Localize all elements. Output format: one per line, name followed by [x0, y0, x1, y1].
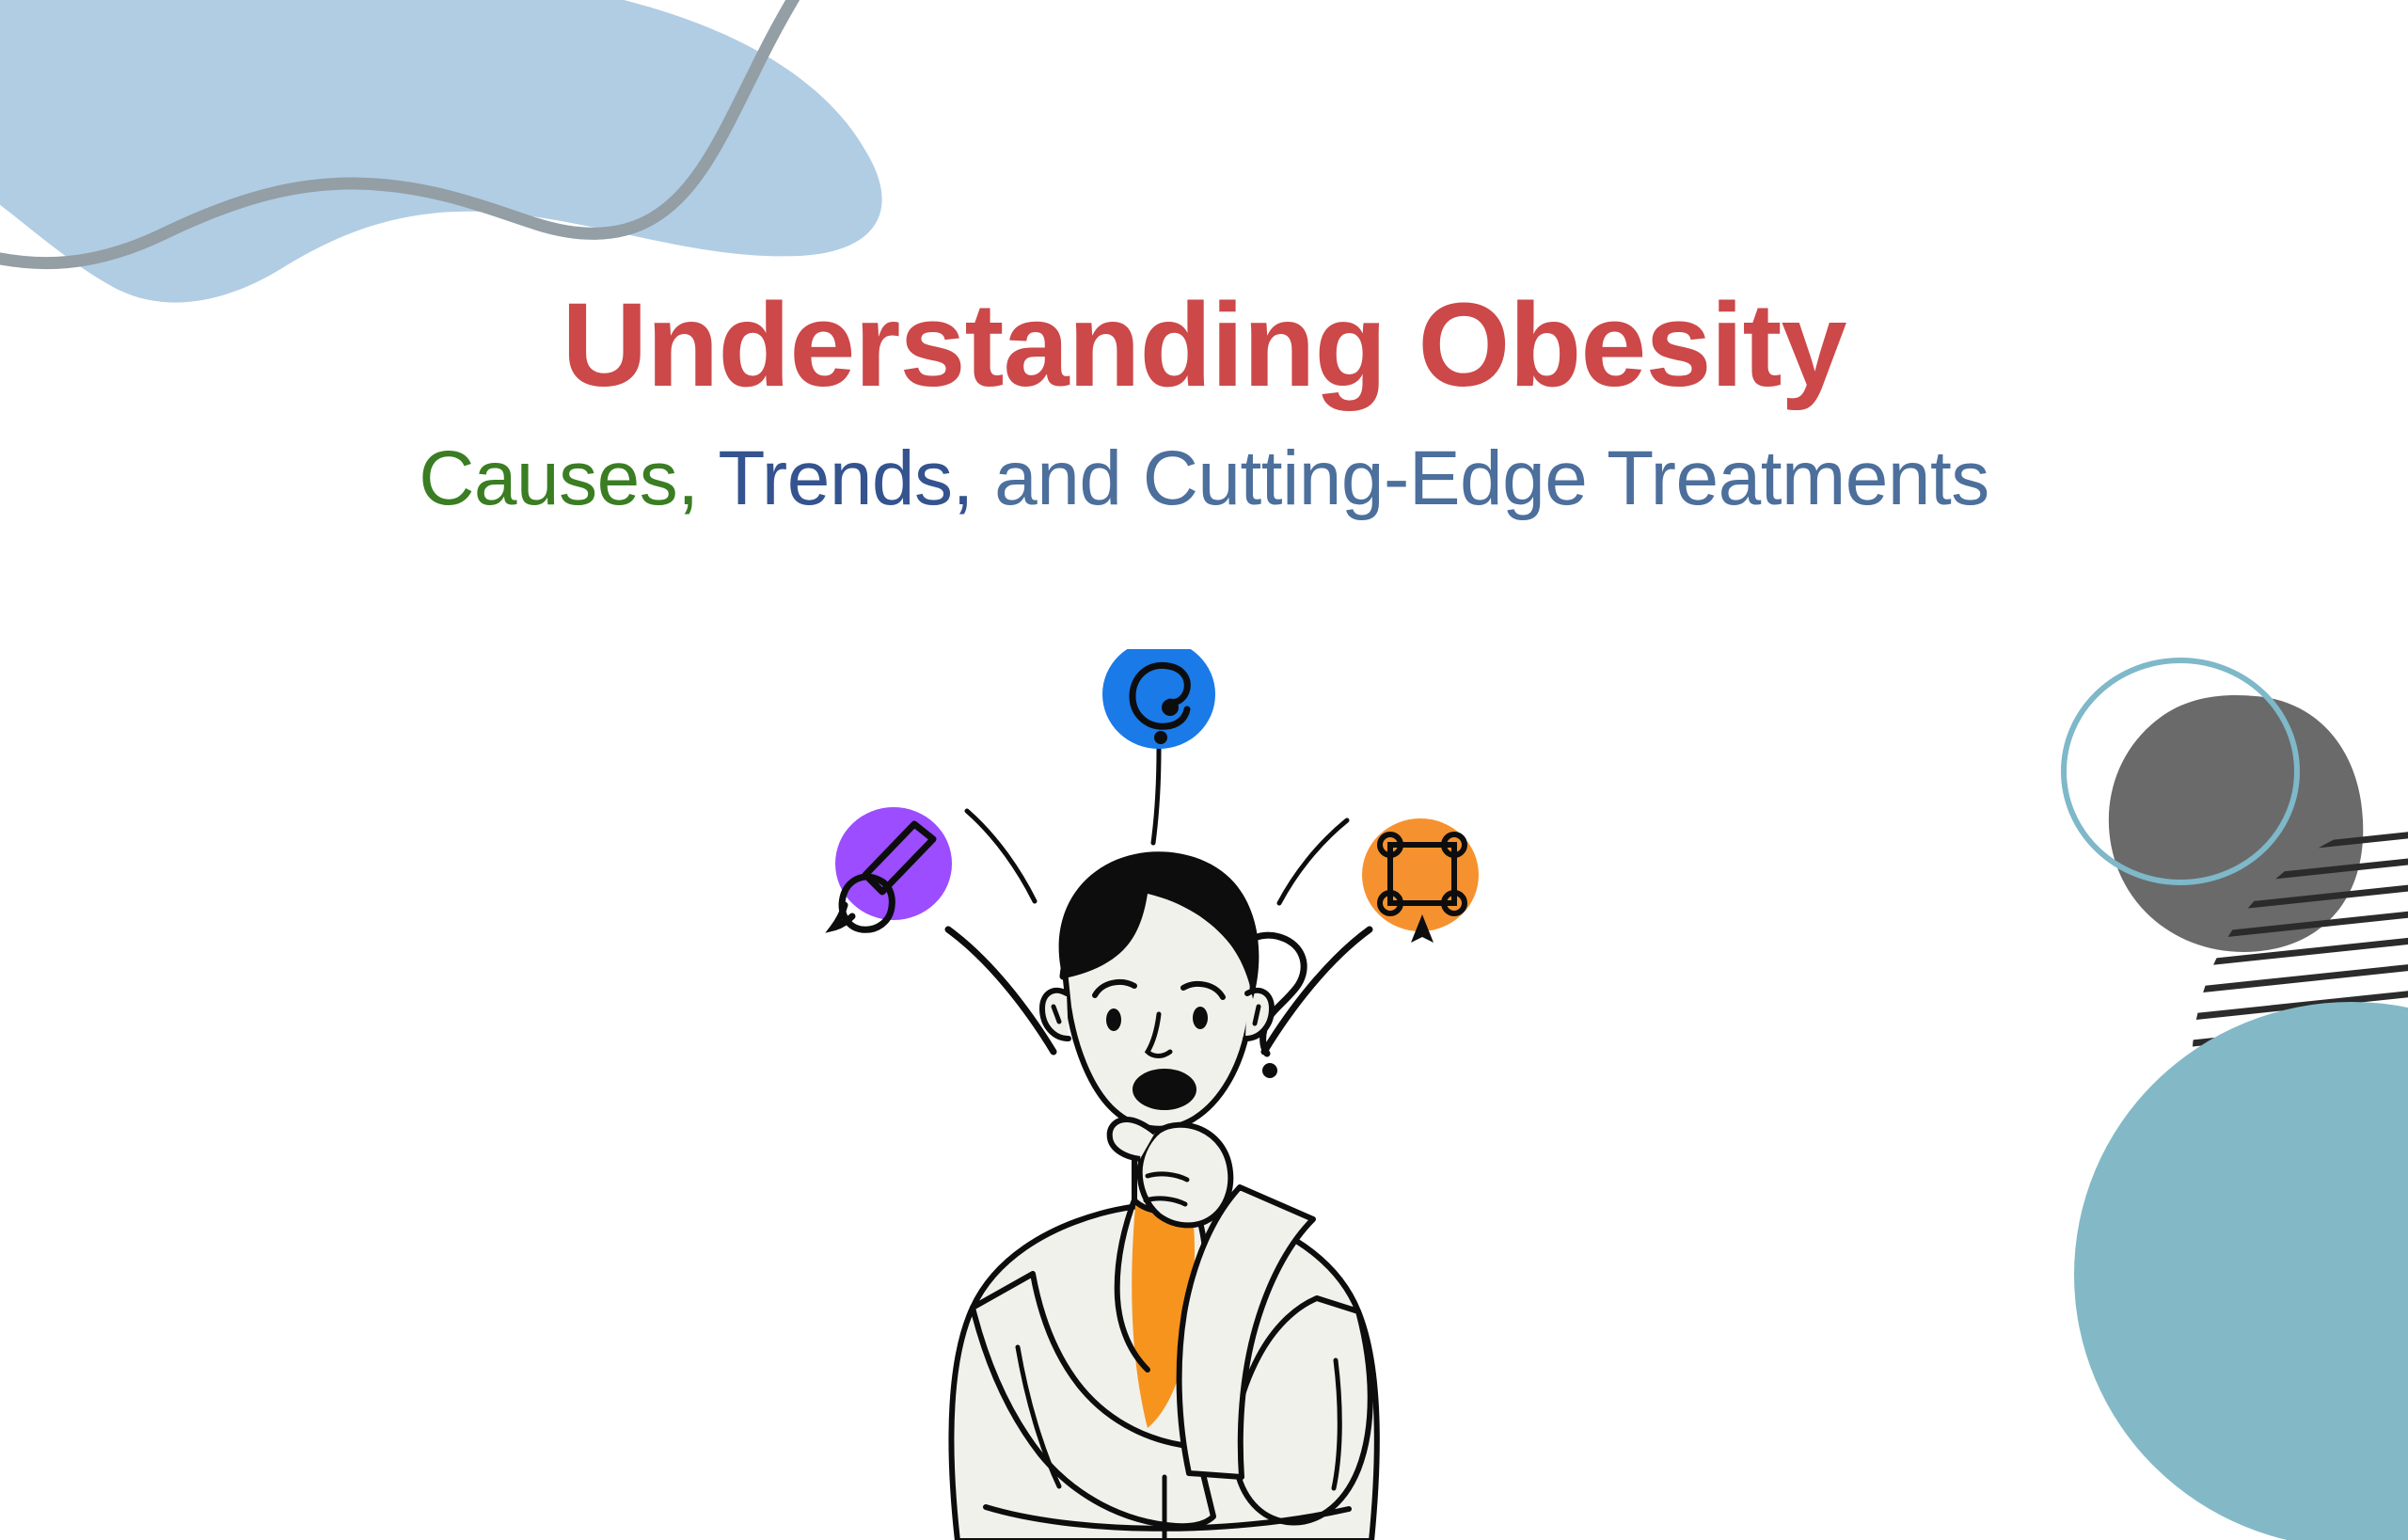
color-picker-glyph-dot [1162, 699, 1179, 716]
color-picker-icon[interactable] [1102, 649, 1215, 749]
gray-circle [2109, 695, 2363, 952]
page-subtitle: Causes, Trends, and Cutting-Edge Treatme… [0, 408, 2408, 521]
title-group: Understanding Obesity Causes, Trends, an… [0, 282, 2408, 521]
color-picker-accent-dot [1154, 731, 1167, 744]
mouth [1133, 1069, 1196, 1110]
eye-left [1106, 1008, 1121, 1031]
subtitle-segment-trends: Trends, [718, 436, 973, 521]
page-title: Understanding Obesity [0, 282, 2408, 408]
transform-tool-icon[interactable] [1362, 818, 1479, 943]
person-figure [951, 851, 1376, 1540]
teal-circle [2074, 1002, 2408, 1540]
eye-right [1193, 1007, 1208, 1029]
paintbrush-icon[interactable] [833, 807, 952, 929]
subtitle-space-2 [974, 436, 994, 521]
subtitle-segment-treatments: and Cutting-Edge Treatments [994, 436, 1989, 521]
subtitle-segment-causes: Causes, [419, 436, 698, 521]
light-blue-blob [0, 0, 882, 303]
thinking-person-illustration [771, 649, 1543, 1540]
subtitle-space-1 [699, 436, 719, 521]
presentation-slide: Understanding Obesity Causes, Trends, an… [0, 0, 2408, 1540]
